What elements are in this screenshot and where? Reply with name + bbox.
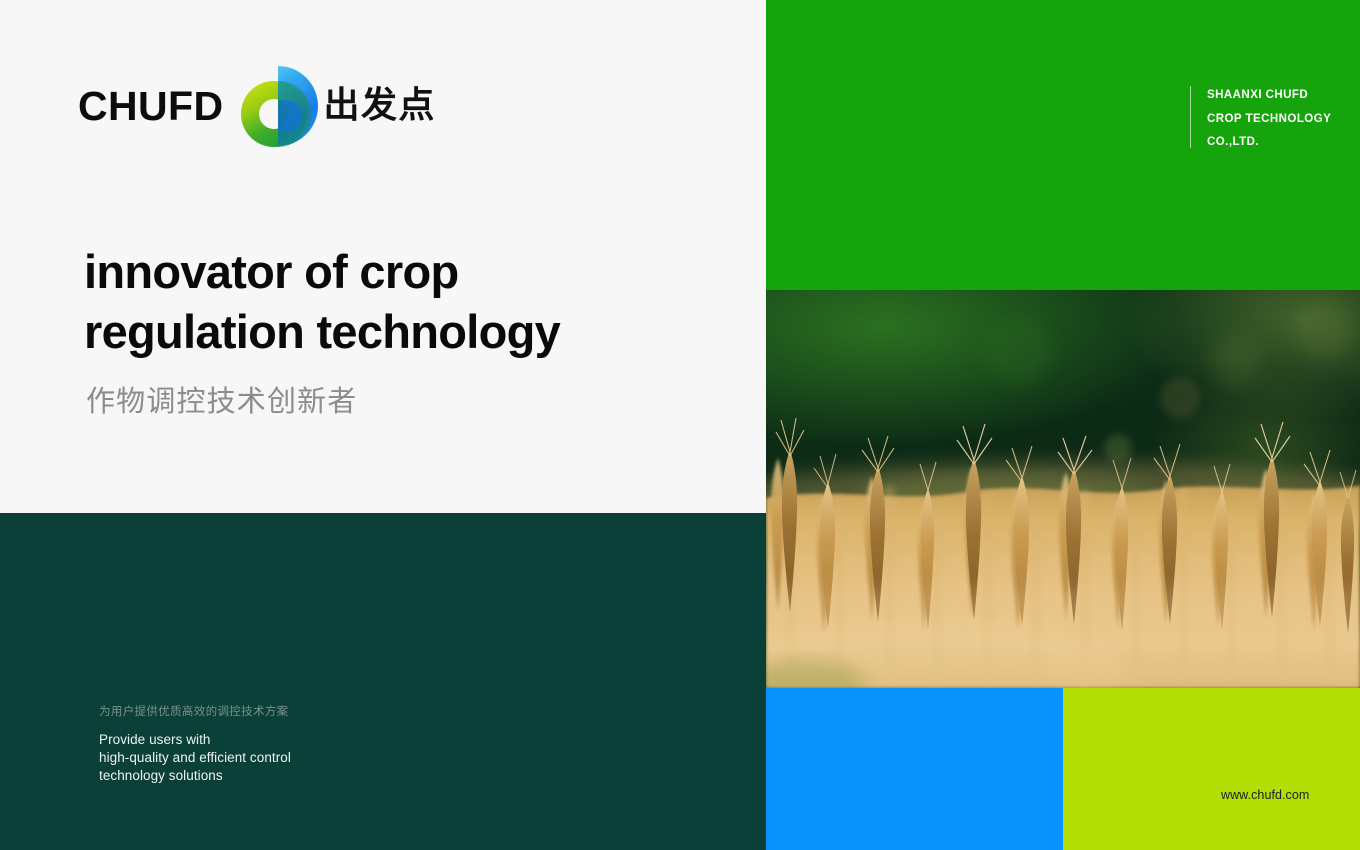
lime-accent-block: [1063, 688, 1360, 850]
wheat-field-photo: [766, 290, 1360, 688]
brand-wordmark: CHUFD: [78, 86, 224, 127]
tagline-english: Provide users with high-quality and effi…: [99, 731, 291, 786]
tagline-english-line-1: Provide users with: [99, 731, 291, 749]
company-line-1: SHAANXI CHUFD: [1207, 84, 1331, 108]
tagline-english-line-3: technology solutions: [99, 767, 291, 785]
company-divider-rule: [1190, 86, 1191, 148]
website-url[interactable]: www.chufd.com: [1221, 788, 1309, 802]
tagline-english-line-2: high-quality and efficient control: [99, 749, 291, 767]
headline-line-2: regulation technology: [84, 302, 724, 362]
hero-headline: innovator of crop regulation technology: [84, 242, 724, 361]
brand-chinese-name: 出发点: [324, 88, 436, 124]
poster-canvas: CHUFD: [0, 0, 1360, 850]
company-line-3: CO.,LTD.: [1207, 131, 1331, 155]
hero-subheadline-chinese: 作物调控技术创新者: [86, 378, 357, 420]
company-line-2: CROP TECHNOLOGY: [1207, 108, 1331, 132]
chufd-circle-logo-icon: [238, 62, 318, 150]
brand-logo-lockup[interactable]: CHUFD: [78, 68, 436, 144]
headline-line-1: innovator of crop: [84, 245, 458, 298]
blue-accent-block: [766, 688, 1063, 850]
left-dark-panel: [0, 513, 766, 850]
tagline-chinese: 为用户提供优质高效的调控技术方案: [99, 703, 289, 719]
company-name-block: SHAANXI CHUFD CROP TECHNOLOGY CO.,LTD.: [1207, 84, 1331, 155]
